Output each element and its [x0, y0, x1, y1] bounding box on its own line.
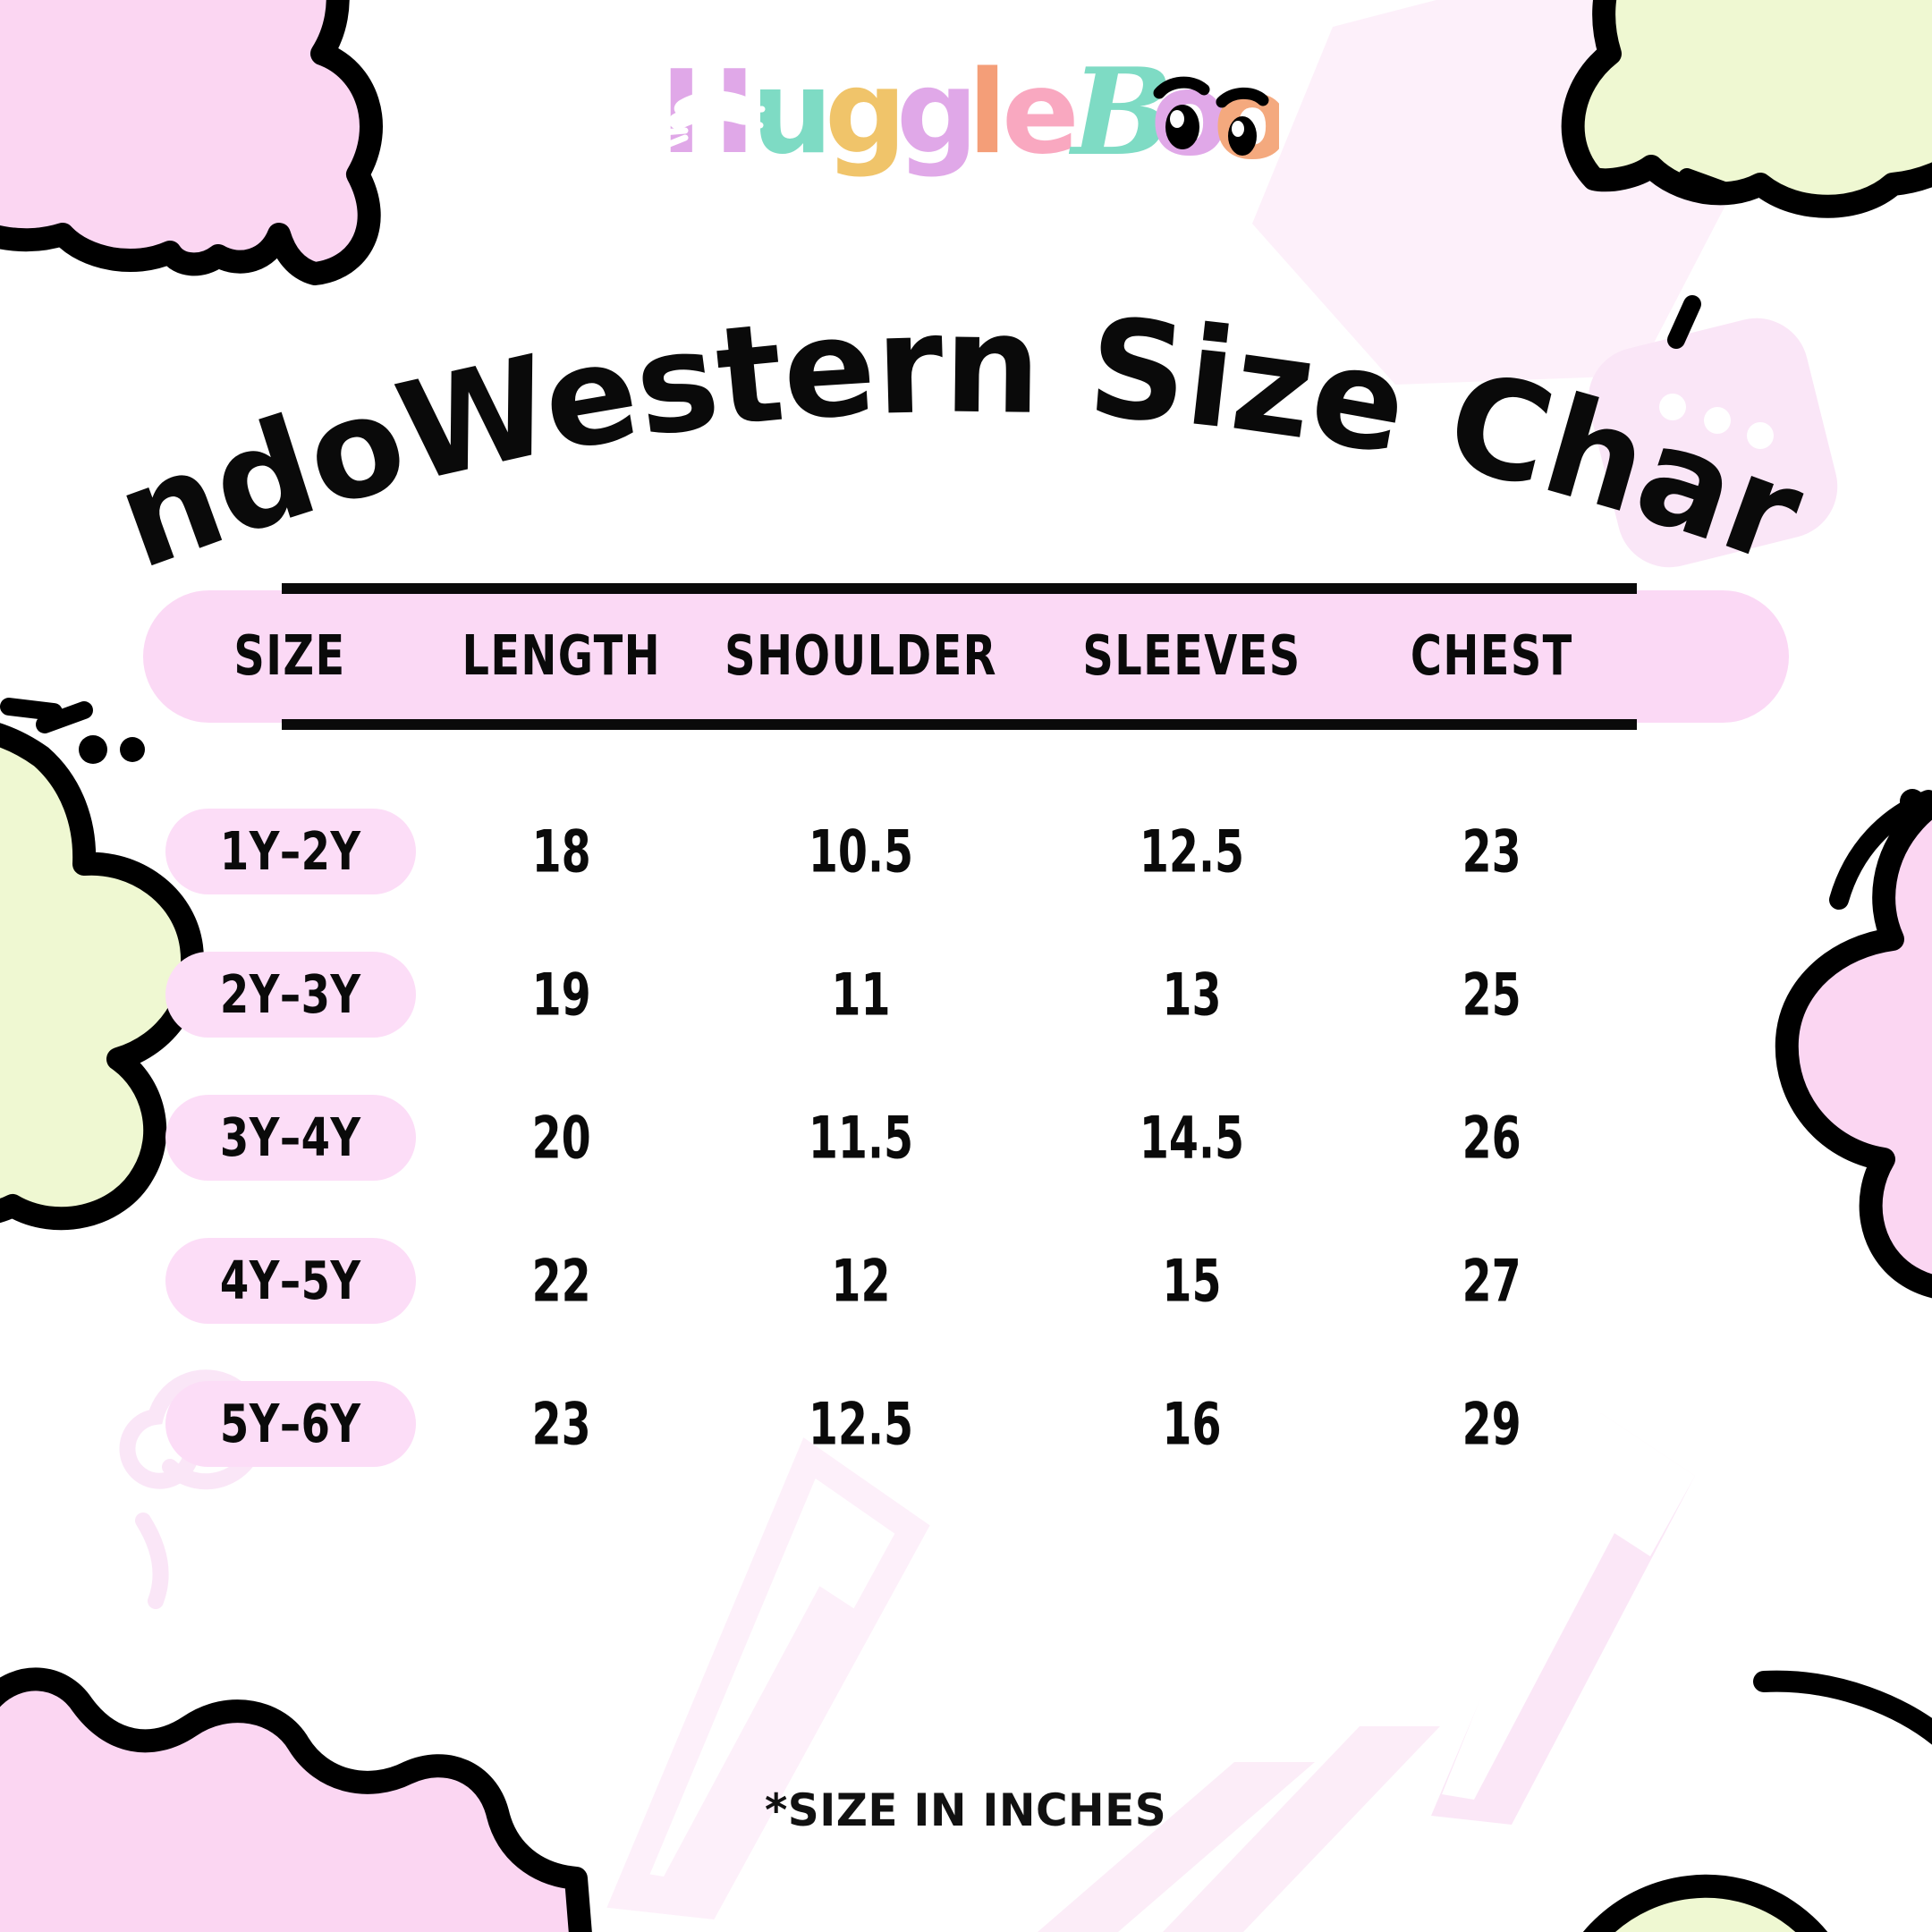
- cell-sleeves: 12.5: [1048, 818, 1335, 885]
- column-header-chest: CHEST: [1366, 625, 1613, 689]
- size-pill: 2Y–3Y: [165, 952, 416, 1038]
- size-chart-table: SIZE LENGTH SHOULDER SLEEVES CHEST 1Y–2Y…: [0, 590, 1932, 1496]
- cell-size: 1Y–2Y: [220, 821, 361, 882]
- cell-chest: 27: [1371, 1247, 1607, 1315]
- cell-sleeves: 14.5: [1048, 1104, 1335, 1172]
- footnote: *SIZE IN INCHES: [0, 1784, 1932, 1836]
- table-header-band: SIZE LENGTH SHOULDER SLEEVES CHEST: [143, 590, 1789, 723]
- size-pill: 5Y–6Y: [165, 1381, 416, 1467]
- table-row: 2Y–3Y 19 11 13 25: [143, 923, 1789, 1066]
- table-row: 4Y–5Y 22 12 15 27: [143, 1209, 1789, 1352]
- table-row: 1Y–2Y 18 10.5 12.5 23: [143, 780, 1789, 923]
- size-pill: 4Y–5Y: [165, 1238, 416, 1324]
- logo-letter-g1: g: [825, 47, 905, 180]
- table-row: 3Y–4Y 20 11.5 14.5 26: [143, 1066, 1789, 1209]
- huggleboo-logo-svg: H u g g l e B o o: [653, 38, 1279, 190]
- size-pill: 1Y–2Y: [165, 809, 416, 894]
- size-pill: 3Y–4Y: [165, 1095, 416, 1181]
- size-chart-poster: H u g g l e B o o: [0, 0, 1932, 1932]
- page-title: IndoWestern Size Chart: [0, 188, 1821, 599]
- cell-sleeves: 15: [1048, 1247, 1335, 1315]
- page-title-wrap: IndoWestern Size Chart: [0, 188, 1932, 599]
- column-header-sleeves: SLEEVES: [1042, 625, 1343, 689]
- cell-size: 2Y–3Y: [220, 964, 361, 1025]
- cell-length: 22: [441, 1247, 677, 1315]
- logo-letter-u: u: [751, 47, 831, 180]
- cell-size: 4Y–5Y: [220, 1250, 361, 1311]
- cloud-bottom-right-sparkle: [1764, 1682, 1932, 1746]
- cell-chest: 26: [1371, 1104, 1607, 1172]
- logo-letter-g2: g: [896, 47, 977, 180]
- cell-shoulder: 10.5: [714, 818, 1009, 885]
- logo-letter-l: l: [968, 47, 1005, 180]
- cell-sleeves: 16: [1048, 1390, 1335, 1458]
- cell-length: 18: [441, 818, 677, 885]
- cell-shoulder: 11.5: [714, 1104, 1009, 1172]
- cell-chest: 29: [1371, 1390, 1607, 1458]
- cell-size: 5Y–6Y: [220, 1394, 361, 1454]
- cell-chest: 23: [1371, 818, 1607, 885]
- cell-length: 19: [441, 961, 677, 1029]
- cell-shoulder: 12.5: [714, 1390, 1009, 1458]
- column-header-length: LENGTH: [436, 625, 682, 689]
- cell-shoulder: 11: [714, 961, 1009, 1029]
- cell-size: 3Y–4Y: [220, 1107, 361, 1168]
- cloud-bottom-right: [1377, 1886, 1932, 1932]
- table-body: 1Y–2Y 18 10.5 12.5 23 2Y–3Y 19 11 13 25 …: [143, 780, 1789, 1496]
- cell-length: 20: [441, 1104, 677, 1172]
- logo-letter-e: e: [1002, 47, 1078, 180]
- cell-length: 23: [441, 1390, 677, 1458]
- column-header-shoulder: SHOULDER: [707, 625, 1015, 689]
- cell-shoulder: 12: [714, 1247, 1009, 1315]
- column-header-size: SIZE: [155, 625, 414, 689]
- cell-chest: 25: [1371, 961, 1607, 1029]
- cell-sleeves: 13: [1048, 961, 1335, 1029]
- brand-logo: H u g g l e B o o: [0, 38, 1932, 190]
- footnote-text: *SIZE IN INCHES: [765, 1784, 1166, 1836]
- table-row: 5Y–6Y 23 12.5 16 29: [143, 1352, 1789, 1496]
